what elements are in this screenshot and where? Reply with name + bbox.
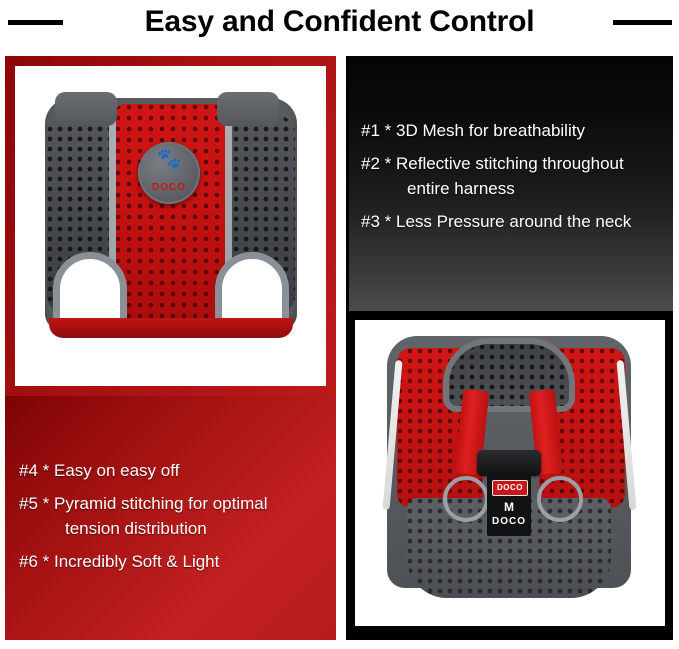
product-photo-panel-back: DOCO M DOCO <box>346 311 673 640</box>
page-title: Easy and Confident Control <box>0 0 679 44</box>
feature-text: Incredibly Soft & Light <box>54 552 219 571</box>
feature-text: Less Pressure around the neck <box>396 212 631 231</box>
feature-list-bottom: #4 * Easy on easy off #5 * Pyramid stitc… <box>19 458 326 582</box>
page-header: Easy and Confident Control <box>0 0 679 56</box>
product-photo-front: 🐾 DOCO <box>15 66 326 386</box>
feature-text: Easy on easy off <box>54 461 179 480</box>
feature-number: #4 * <box>19 461 49 480</box>
product-photo-back: DOCO M DOCO <box>355 320 665 626</box>
size-label-brand: DOCO <box>492 480 528 496</box>
feature-number: #3 * <box>361 212 391 231</box>
leash-d-ring-right <box>537 476 583 522</box>
features-panel-red: #4 * Easy on easy off #5 * Pyramid stitc… <box>5 396 336 640</box>
list-item: #3 * Less Pressure around the neck <box>361 209 663 234</box>
feature-number: #5 * <box>19 494 49 513</box>
size-label-size: M <box>487 500 531 514</box>
harness-shoulder-strap-left <box>55 92 117 126</box>
harness-back-illustration: DOCO M DOCO <box>381 332 637 604</box>
paw-print-icon: 🐾 <box>138 149 200 169</box>
features-panel-dark: #1 * 3D Mesh for breathability #2 * Refl… <box>346 56 673 311</box>
feature-number: #2 * <box>361 154 391 173</box>
size-label: DOCO M DOCO <box>487 474 531 536</box>
harness-bottom-hem <box>49 318 293 338</box>
brand-badge: 🐾 DOCO <box>138 142 200 204</box>
list-item: #4 * Easy on easy off <box>19 458 326 483</box>
product-photo-panel-front: 🐾 DOCO <box>5 56 336 396</box>
feature-number: #1 * <box>361 121 391 140</box>
brand-badge-label: DOCO <box>138 182 200 193</box>
list-item: #6 * Incredibly Soft & Light <box>19 549 326 574</box>
feature-text: 3D Mesh for breathability <box>396 121 585 140</box>
title-rule-right-icon <box>613 20 672 25</box>
harness-buckle <box>477 450 541 476</box>
size-label-name: DOCO <box>487 516 531 528</box>
leash-d-ring-left <box>443 476 489 522</box>
feature-number: #6 * <box>19 552 49 571</box>
list-item: #2 * Reflective stitching throughout ent… <box>361 151 663 201</box>
harness-shoulder-strap-right <box>217 92 279 126</box>
list-item: #1 * 3D Mesh for breathability <box>361 118 663 143</box>
feature-text: Pyramid stitching for optimal tension di… <box>54 494 268 538</box>
feature-text: Reflective stitching throughout entire h… <box>396 154 624 198</box>
feature-list-top: #1 * 3D Mesh for breathability #2 * Refl… <box>361 118 663 242</box>
harness-chest-panel <box>115 104 227 326</box>
harness-front-illustration: 🐾 DOCO <box>37 90 305 340</box>
list-item: #5 * Pyramid stitching for optimal tensi… <box>19 491 326 541</box>
